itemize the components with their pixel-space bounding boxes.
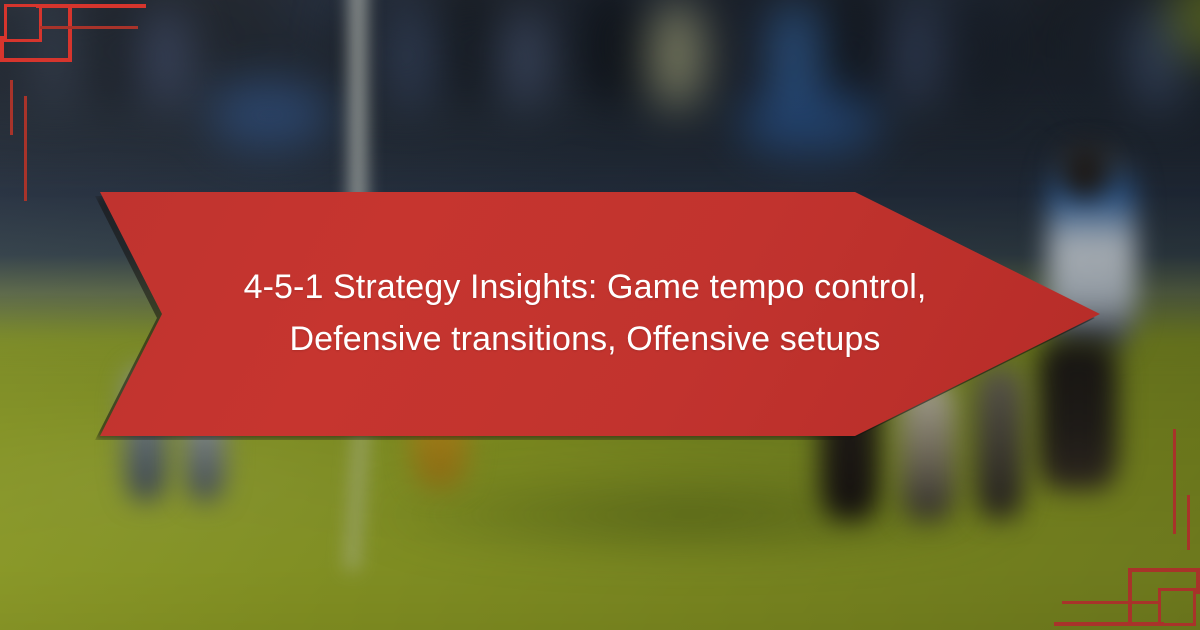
corner-line-tl-elbow-v bbox=[68, 4, 72, 62]
corner-line-tl-h-outer bbox=[36, 4, 146, 8]
corner-line-br-elbow-v bbox=[1128, 568, 1132, 626]
corner-line-br-h-outer bbox=[1054, 622, 1164, 626]
banner-image: 4-5-1 Strategy Insights: Game tempo cont… bbox=[0, 0, 1200, 630]
corner-bracket-bottom-right bbox=[1030, 480, 1200, 630]
corner-line-br-h-inner bbox=[1062, 601, 1160, 604]
corner-line-tl-elbow-h bbox=[0, 58, 72, 62]
corner-square-br bbox=[1158, 588, 1196, 626]
corner-line-br-v-inner-2 bbox=[1187, 495, 1190, 550]
headline-ribbon: 4-5-1 Strategy Insights: Game tempo cont… bbox=[100, 192, 1100, 436]
corner-bracket-top-left bbox=[0, 0, 170, 150]
corner-line-br-v-inner bbox=[1173, 429, 1176, 534]
corner-line-tl-v-inner bbox=[24, 96, 27, 201]
ribbon-shape: 4-5-1 Strategy Insights: Game tempo cont… bbox=[100, 192, 1100, 436]
corner-line-br-elbow-h bbox=[1128, 568, 1200, 572]
corner-square-tl bbox=[4, 4, 42, 42]
page-title: 4-5-1 Strategy Insights: Game tempo cont… bbox=[244, 262, 927, 365]
headline-line-1: 4-5-1 Strategy Insights: Game tempo cont… bbox=[244, 262, 927, 314]
headline-line-2: Defensive transitions, Offensive setups bbox=[244, 314, 927, 366]
corner-line-tl-h-inner bbox=[40, 26, 138, 29]
corner-line-tl-v-inner-2 bbox=[10, 80, 13, 135]
